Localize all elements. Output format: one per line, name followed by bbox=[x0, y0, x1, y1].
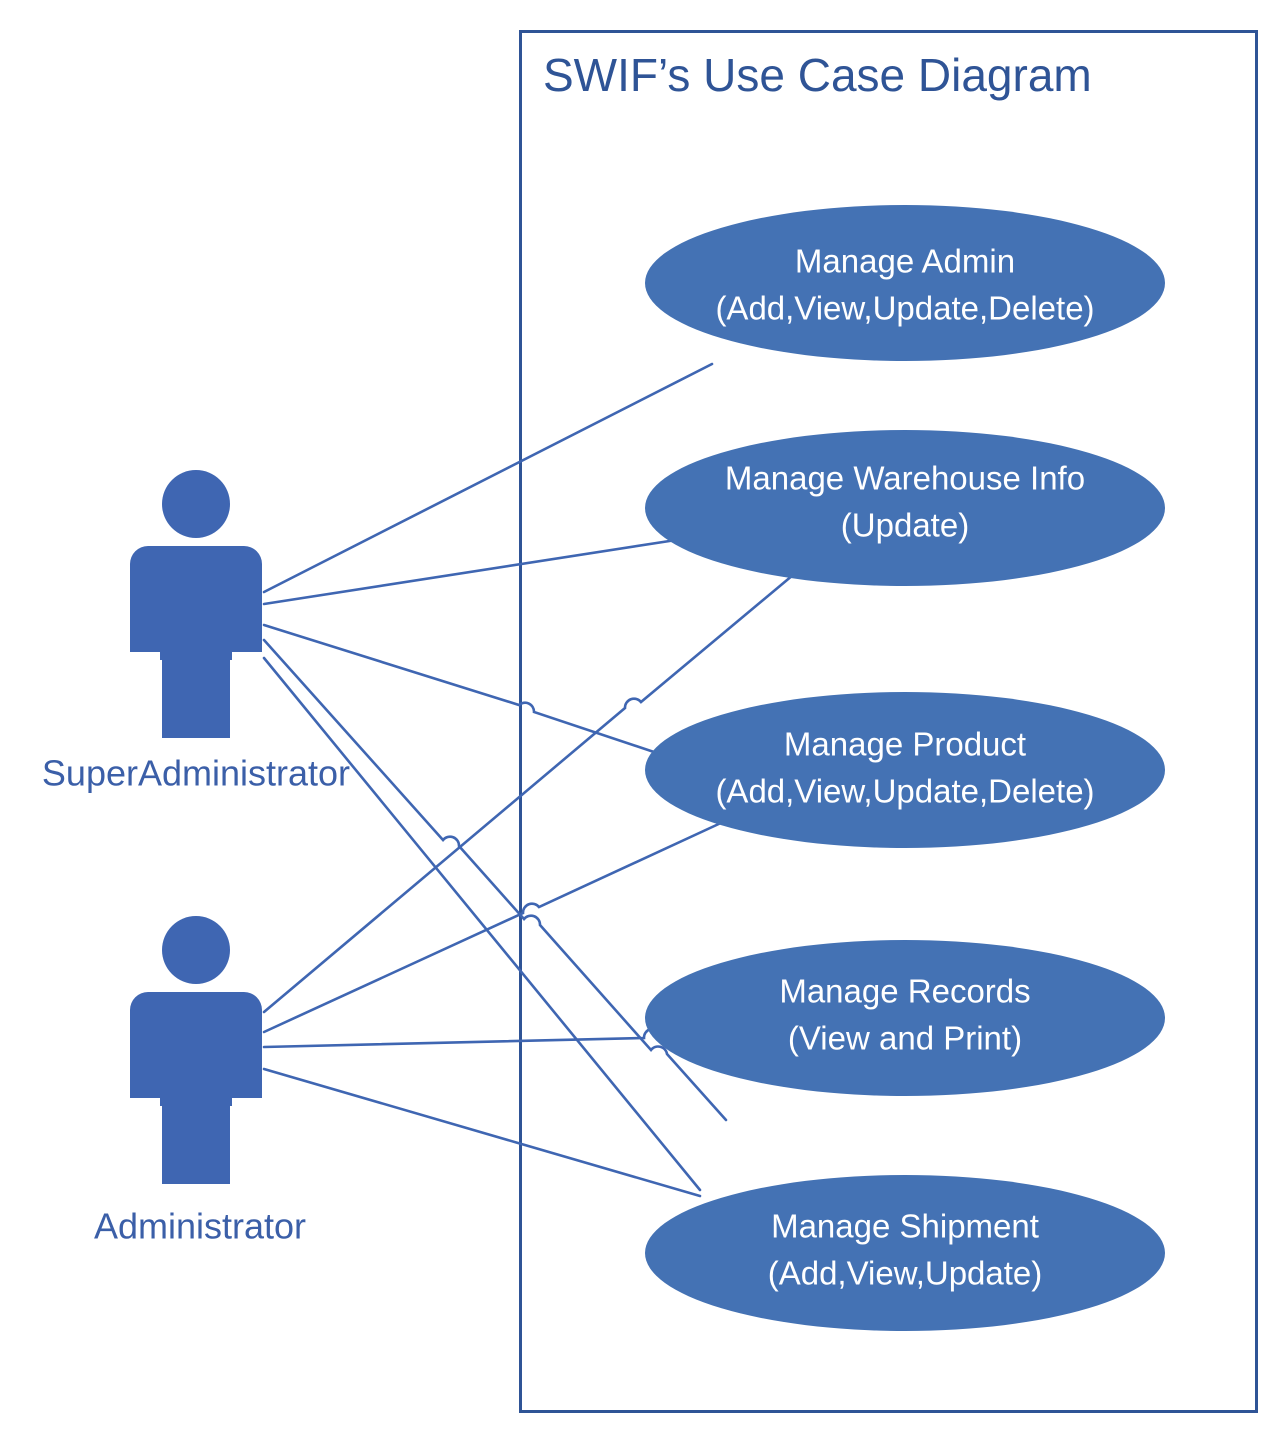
actor-legs-icon bbox=[162, 654, 230, 738]
actor-head-icon bbox=[162, 916, 230, 984]
use-case-diagram: Manage Admin (Add,View,Update,Delete) Ma… bbox=[0, 0, 1279, 1446]
actor-label: Administrator bbox=[94, 1206, 306, 1247]
use-case-ellipse bbox=[645, 940, 1165, 1096]
use-case-label-line2: (Update) bbox=[841, 507, 969, 544]
use-case-label-line2: (Add,View,Update) bbox=[768, 1255, 1043, 1292]
use-case-label-line1: Manage Records bbox=[779, 973, 1030, 1010]
use-case-label-line1: Manage Product bbox=[784, 726, 1026, 763]
diagram-title: SWIF’s Use Case Diagram bbox=[543, 49, 1092, 101]
use-case-label-line2: (Add,View,Update,Delete) bbox=[715, 773, 1094, 810]
use-case-label-line2: (View and Print) bbox=[788, 1020, 1022, 1057]
actor-legs-icon bbox=[162, 1100, 230, 1184]
use-case-manage-product[interactable]: Manage Product (Add,View,Update,Delete) bbox=[645, 692, 1165, 848]
actor-administrator[interactable]: Administrator bbox=[94, 916, 306, 1247]
use-case-label-line1: Manage Admin bbox=[795, 243, 1015, 280]
actor-icon bbox=[130, 916, 262, 1184]
actor-head-icon bbox=[162, 470, 230, 538]
actor-body-icon bbox=[130, 992, 262, 1106]
use-case-diagram-canvas: Manage Admin (Add,View,Update,Delete) Ma… bbox=[0, 0, 1279, 1446]
actor-icon bbox=[130, 470, 262, 738]
use-case-ellipse bbox=[645, 1175, 1165, 1331]
actor-label: SuperAdministrator bbox=[42, 753, 350, 794]
use-case-label-line1: Manage Shipment bbox=[771, 1208, 1039, 1245]
use-case-manage-admin[interactable]: Manage Admin (Add,View,Update,Delete) bbox=[645, 205, 1165, 361]
actor-super-administrator[interactable]: SuperAdministrator bbox=[42, 470, 350, 794]
use-case-label-line1: Manage Warehouse Info bbox=[725, 460, 1085, 497]
use-case-manage-warehouse-info[interactable]: Manage Warehouse Info (Update) bbox=[645, 430, 1165, 586]
use-case-manage-records[interactable]: Manage Records (View and Print) bbox=[645, 940, 1165, 1096]
use-case-manage-shipment[interactable]: Manage Shipment (Add,View,Update) bbox=[645, 1175, 1165, 1331]
use-case-ellipse bbox=[645, 692, 1165, 848]
use-case-ellipse bbox=[645, 205, 1165, 361]
actor-body-icon bbox=[130, 546, 262, 660]
use-case-label-line2: (Add,View,Update,Delete) bbox=[715, 290, 1094, 327]
